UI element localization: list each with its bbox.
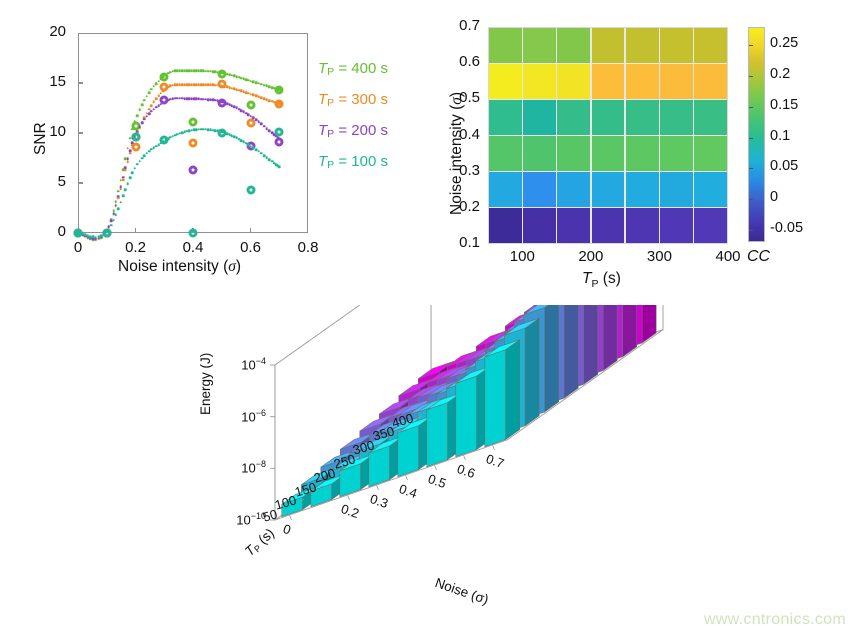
- heatmap-cell: [626, 172, 659, 207]
- heatmap-cell: [694, 100, 727, 135]
- panel-a-fit-dot: [138, 160, 141, 163]
- panel-c-bar-side: [525, 318, 539, 426]
- heatmap-cell: [523, 208, 556, 243]
- panel-b-ctick-mark: [749, 45, 753, 46]
- panel-a-point: [189, 139, 198, 148]
- panel-a-ylabel: SNR: [32, 122, 50, 155]
- panel-c-xtick-mark: [493, 445, 495, 450]
- heatmap-cell: [523, 64, 556, 99]
- panel-a-legend-T: T: [318, 60, 327, 77]
- panel-a-fit-dot: [145, 115, 148, 118]
- panel-a-xlabel-sigma: σ: [228, 258, 236, 275]
- heatmap-cell: [489, 172, 522, 207]
- heatmap-cell: [489, 100, 522, 135]
- panel-a-legend-value: = 300 s: [334, 91, 388, 108]
- heatmap-cell: [626, 208, 659, 243]
- panel-a-fit-dot: [148, 112, 151, 115]
- panel-b-ctick-mark: [749, 168, 753, 169]
- heatmap-cell: [626, 136, 659, 171]
- panel-c-bar-front: [398, 426, 419, 477]
- panel-a-point: [189, 118, 198, 127]
- panel-a-fit-dot: [129, 149, 132, 152]
- heatmap-cell: [592, 28, 625, 63]
- panel-a-xtick-0p6: 0.6: [240, 239, 261, 256]
- panel-a-point: [275, 128, 284, 137]
- panel-a-point: [160, 136, 169, 145]
- panel-b-ylabel: Noise intensity (σ): [448, 92, 466, 215]
- panel-a-xtick-0p8: 0.8: [298, 239, 319, 256]
- heatmap-cell: [592, 136, 625, 171]
- heatmap-cell: [694, 64, 727, 99]
- panel-b-ytick-0p6: 0.6: [459, 53, 480, 70]
- panel-c-bar-side: [545, 305, 559, 412]
- heatmap-cell: [523, 136, 556, 171]
- panel-a-legend-value: = 100 s: [334, 153, 388, 170]
- panel-c-bar-side: [506, 340, 520, 440]
- panel-a-point: [246, 186, 255, 195]
- panel-b-ytick-0p4: 0.4: [459, 126, 480, 143]
- panel-c-bar-side: [564, 305, 578, 398]
- panel-a-fit-dot: [157, 80, 160, 83]
- panel-a-legend-item-2: TP = 200 s: [318, 122, 388, 140]
- panel-c-zlabel: Energy (J): [198, 353, 213, 415]
- panel-b-ctick-m0p05: -0.05: [770, 220, 803, 236]
- panel-c-bar-side: [603, 305, 617, 371]
- panel-a-ytick-20: 20: [49, 23, 66, 40]
- panel-b-ctick-mark: [749, 76, 753, 77]
- panel-a-fit-dot: [143, 99, 146, 102]
- panel-b-ctick-0p2: 0.2: [770, 66, 790, 82]
- panel-a-fit-dot: [155, 82, 158, 85]
- panel-a-fit-dot: [124, 169, 127, 172]
- heatmap-cell: [557, 28, 590, 63]
- panel-a-legend-T: T: [318, 91, 327, 108]
- panel-c-xtick-mark: [435, 465, 437, 470]
- panel-a-snr-chart: SNR 05101520 00.20.40.60.8 Noise intensi…: [0, 0, 430, 300]
- panel-a-fit-dot: [150, 104, 153, 107]
- panel-a-ytick-15: 15: [49, 73, 66, 90]
- panel-a-ytick-5: 5: [58, 173, 66, 190]
- panel-c-3d-bar-chart: Energy (J) 10−410−610−810−10 50100150200…: [180, 305, 700, 625]
- panel-b-colorbar: [748, 27, 765, 242]
- panel-a-point: [217, 99, 226, 108]
- panel-b-heatmap-chart: Noise intensity (σ) 0.70.60.50.40.30.20.…: [430, 0, 856, 300]
- panel-a-legend-item-0: TP = 400 s: [318, 60, 388, 78]
- panel-a-fit-dot: [152, 85, 155, 88]
- panel-a-fit-dot: [126, 158, 129, 161]
- heatmap-cell: [523, 172, 556, 207]
- panel-c-ztick--4: 10−4: [241, 356, 266, 372]
- panel-a-fit-dot: [160, 92, 163, 95]
- panel-a-fit-dot: [115, 200, 118, 203]
- panel-a-fit-dot: [138, 126, 141, 129]
- panel-a-fit-dot: [119, 201, 122, 204]
- panel-a-point: [131, 133, 140, 142]
- panel-a-point: [160, 73, 169, 82]
- panel-a-ytick-0: 0: [58, 223, 66, 240]
- panel-a-xtick-0: 0: [74, 239, 82, 256]
- panel-a-fit-dot: [117, 195, 120, 198]
- panel-b-heatmap-grid: [488, 27, 728, 244]
- panel-b-ctick-mark: [749, 107, 753, 108]
- panel-a-fit-dot: [152, 101, 155, 104]
- heatmap-cell: [489, 64, 522, 99]
- panel-c-ztick--8: 10−8: [241, 459, 266, 475]
- heatmap-cell: [694, 172, 727, 207]
- panel-a-fit-dot: [150, 88, 153, 91]
- panel-c-bar-front: [485, 350, 506, 447]
- panel-a-legend-value: = 200 s: [334, 122, 388, 139]
- heatmap-cell: [660, 136, 693, 171]
- heatmap-cell: [660, 208, 693, 243]
- panel-c-ztick--6: 10−6: [241, 408, 266, 424]
- panel-a-fit-dot: [129, 152, 132, 155]
- panel-c-bar-front: [427, 403, 448, 467]
- panel-a-ytick-10: 10: [49, 123, 66, 140]
- panel-a-point: [74, 229, 83, 238]
- panel-b-xtick-300: 300: [647, 248, 672, 265]
- heatmap-cell: [557, 100, 590, 135]
- heatmap-cell: [592, 172, 625, 207]
- panel-a-point: [275, 100, 284, 109]
- panel-c-xtick-mark: [377, 485, 379, 490]
- panel-a-legend-T: T: [318, 122, 327, 139]
- panel-a-fit-dot: [115, 204, 118, 207]
- panel-a-point: [189, 166, 198, 175]
- panel-a-xtick-0p2: 0.2: [125, 239, 146, 256]
- panel-a-fit-dot: [136, 163, 139, 166]
- panel-c-xtick-mark: [348, 495, 350, 500]
- watermark: www.cntronics.com: [704, 611, 846, 629]
- heatmap-cell: [694, 28, 727, 63]
- heatmap-cell: [660, 100, 693, 135]
- panel-b-xtick-100: 100: [510, 248, 535, 265]
- panel-a-point: [160, 96, 169, 105]
- panel-a-xlabel-text: Noise intensity (: [118, 258, 228, 275]
- panel-a-point: [189, 229, 198, 238]
- heatmap-cell: [489, 28, 522, 63]
- panel-c-xtick-mark: [406, 475, 408, 480]
- panel-b-ctick-mark: [749, 199, 753, 200]
- heatmap-cell: [489, 208, 522, 243]
- heatmap-cell: [694, 136, 727, 171]
- panel-a-fit-dot: [138, 109, 141, 112]
- heatmap-cell: [557, 64, 590, 99]
- panel-c-bar-side: [584, 305, 598, 384]
- panel-b-ytick-0p3: 0.3: [459, 162, 480, 179]
- panel-a-legend-item-1: TP = 300 s: [318, 91, 388, 109]
- panel-a-xlabel: Noise intensity (σ): [118, 258, 241, 276]
- panel-b-colorbar-label: CC: [747, 248, 770, 266]
- panel-a-fit-dot: [141, 122, 144, 125]
- panel-a-fit-dot: [110, 224, 113, 227]
- panel-a-fit-dot: [148, 91, 151, 94]
- heatmap-cell: [557, 172, 590, 207]
- heatmap-cell: [626, 64, 659, 99]
- panel-b-ctick-0p15: 0.15: [770, 97, 798, 113]
- heatmap-cell: [660, 172, 693, 207]
- panel-a-fit-dot: [122, 195, 125, 198]
- heatmap-cell: [592, 64, 625, 99]
- panel-a-xtick-0p4: 0.4: [183, 239, 204, 256]
- panel-b-ctick-mark: [749, 230, 753, 231]
- panel-c-bar-front: [456, 376, 477, 457]
- panel-a-fit-dot: [126, 182, 129, 185]
- panel-a-fit-dot: [124, 188, 127, 191]
- panel-a-legend-T: T: [318, 153, 327, 170]
- panel-a-point: [217, 70, 226, 79]
- panel-a-fit-dot: [143, 118, 146, 121]
- panel-a-fit-dot: [122, 176, 125, 179]
- panel-b-ctick-0p25: 0.25: [770, 35, 798, 51]
- panel-a-legend-item-3: TP = 100 s: [318, 153, 388, 171]
- panel-a-legend-value: = 400 s: [334, 60, 388, 77]
- panel-a-fit-dot: [129, 176, 132, 179]
- panel-a-point: [275, 86, 284, 95]
- panel-a-point: [217, 80, 226, 89]
- panel-b-ctick-0p05: 0.05: [770, 158, 798, 174]
- panel-a-point: [246, 119, 255, 128]
- heatmap-cell: [592, 208, 625, 243]
- panel-b-xtick-200: 200: [578, 248, 603, 265]
- panel-b-ytick-0p7: 0.7: [459, 17, 480, 34]
- heatmap-cell: [626, 28, 659, 63]
- heatmap-cell: [660, 28, 693, 63]
- panel-a-fit-dot: [112, 219, 115, 222]
- panel-a-xlabel-tail: ): [236, 258, 241, 275]
- panel-a-fit-dot: [143, 154, 146, 157]
- panel-c-xtick-mark: [290, 515, 292, 520]
- panel-a-fit-dot: [117, 207, 120, 210]
- panel-a-fit-dot: [119, 186, 122, 189]
- panel-a-fit-dot: [126, 160, 129, 163]
- panel-a-fit-dot: [145, 95, 148, 98]
- panel-a-fit-dot: [131, 142, 134, 145]
- panel-a-fit-dot: [134, 167, 137, 170]
- panel-b-xtick-400: 400: [715, 248, 740, 265]
- panel-a-fit-dot: [124, 167, 127, 170]
- panel-a-fit-dot: [131, 171, 134, 174]
- panel-b-ytick-0p2: 0.2: [459, 198, 480, 215]
- panel-b-xlabel-post: (s): [598, 270, 620, 287]
- heatmap-cell: [523, 100, 556, 135]
- heatmap-cell: [626, 100, 659, 135]
- heatmap-cell: [489, 136, 522, 171]
- panel-a-point: [275, 138, 284, 147]
- panel-a-point: [217, 129, 226, 138]
- panel-a-fit-dot: [115, 213, 118, 216]
- panel-a-fit-dot: [141, 157, 144, 160]
- panel-b-ctick-mark: [749, 138, 753, 139]
- panel-a-fit-dot: [136, 114, 139, 117]
- heatmap-cell: [660, 64, 693, 99]
- panel-b-xlabel: TP (s): [582, 270, 621, 290]
- panel-a-fit-dot: [155, 98, 158, 101]
- heatmap-cell: [557, 136, 590, 171]
- panel-b-ytick-0p5: 0.5: [459, 89, 480, 106]
- panel-a-fit-dot: [117, 190, 120, 193]
- panel-a-point: [102, 229, 111, 238]
- panel-a-fit-dot: [141, 104, 144, 107]
- heatmap-cell: [694, 208, 727, 243]
- panel-b-ctick-0: 0: [770, 189, 778, 205]
- panel-b-ytick-0p1: 0.1: [459, 234, 480, 251]
- panel-b-ctick-0p1: 0.1: [770, 128, 790, 144]
- panel-a-data-layer: [78, 33, 308, 233]
- panel-a-fit-dot: [278, 166, 281, 169]
- heatmap-cell: [523, 28, 556, 63]
- panel-c-bar-side: [642, 305, 656, 343]
- heatmap-cell: [557, 208, 590, 243]
- panel-a-point: [160, 83, 169, 92]
- panel-a-point: [246, 101, 255, 110]
- panel-c-xtick-mark: [464, 455, 466, 460]
- heatmap-cell: [592, 100, 625, 135]
